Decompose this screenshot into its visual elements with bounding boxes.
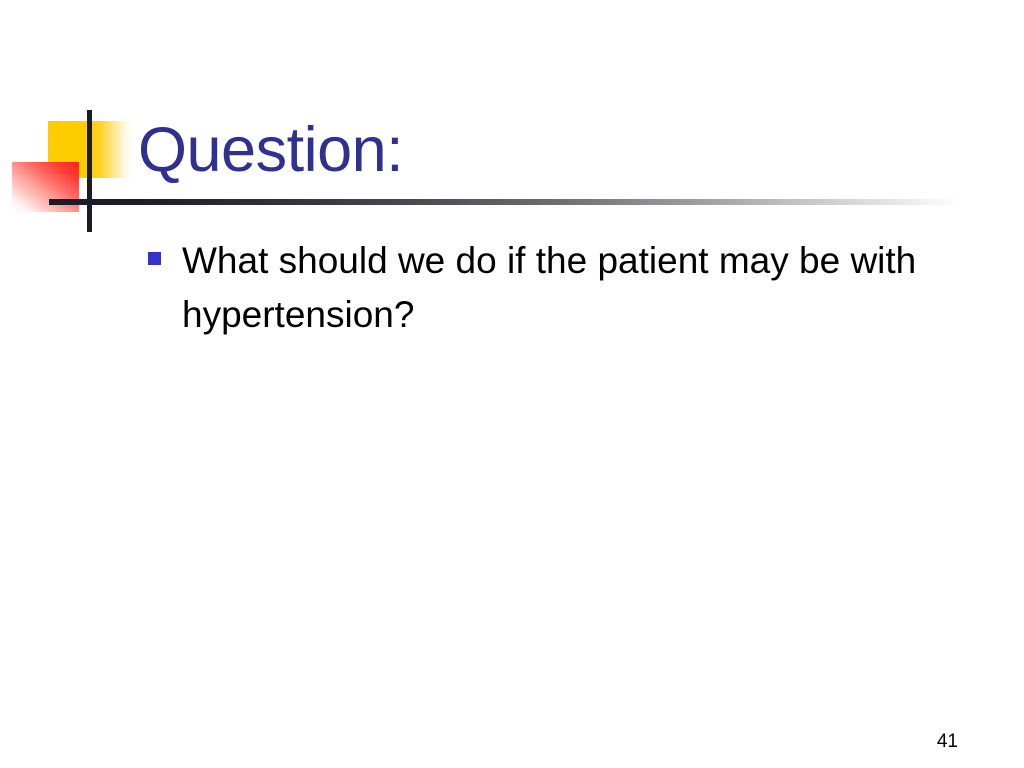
list-item-text: What should we do if the patient may be … bbox=[182, 234, 944, 341]
ornament-yellow-block bbox=[48, 121, 136, 178]
title-underline-rule bbox=[50, 199, 962, 205]
square-bullet-icon bbox=[148, 252, 161, 265]
slide-canvas: Question: What should we do if the patie… bbox=[0, 0, 1024, 768]
slide-title: Question: bbox=[138, 118, 958, 184]
list-item: What should we do if the patient may be … bbox=[148, 234, 968, 341]
slide-number: 41 bbox=[937, 731, 958, 753]
ornament-vertical-bar bbox=[87, 110, 92, 232]
slide-body: What should we do if the patient may be … bbox=[148, 234, 968, 341]
